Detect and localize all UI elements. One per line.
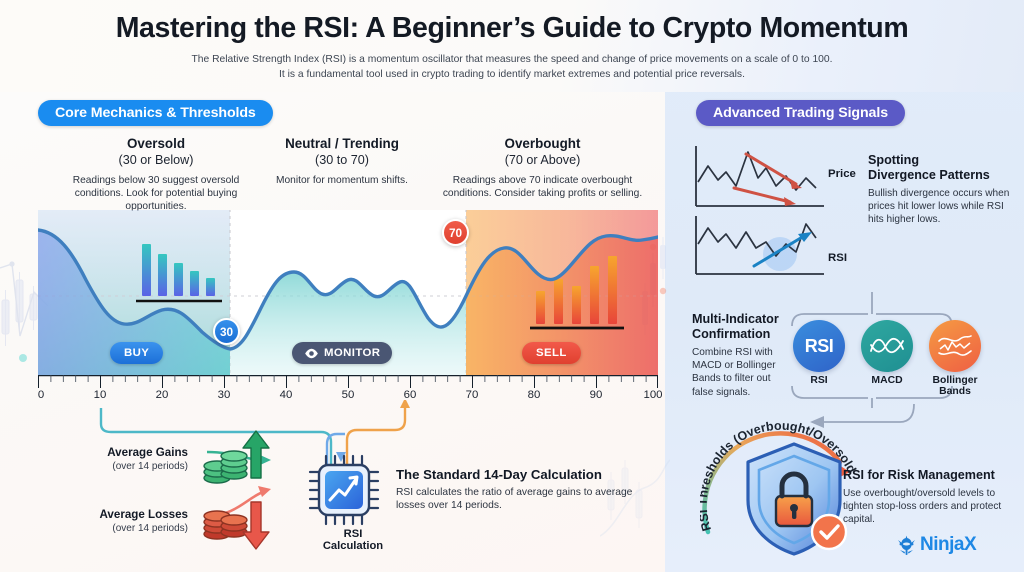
brand-logo-text: NinjaX: [920, 534, 976, 556]
signal-pill-label: MONITOR: [324, 347, 380, 359]
price-chart-label: Price: [828, 168, 856, 180]
standard-calculation-text: The Standard 14-Day Calculation RSI calc…: [396, 466, 636, 513]
bollinger-bands-icon: [937, 333, 973, 359]
zone-range: (30 or Below): [60, 152, 252, 168]
zone-range: (30 to 70): [253, 152, 431, 168]
multi-indicator-text-block: Multi-Indicator Confirmation Combine RSI…: [692, 312, 792, 399]
multi-indicator-heading-line-2: Confirmation: [692, 327, 792, 342]
risk-connector-arrow: [800, 400, 920, 440]
average-gains-title: Average Gains: [78, 446, 188, 460]
multi-indicator-heading-line-1: Multi-Indicator: [692, 312, 792, 327]
risk-management-text-block: RSI for Risk Management Use overbought/o…: [843, 468, 1021, 527]
divergence-heading-line-1: Spotting: [868, 153, 1018, 168]
threshold-marker-30: 30: [213, 318, 240, 345]
indicator-badge-bollinger[interactable]: [929, 320, 981, 372]
page-title: Mastering the RSI: A Beginner’s Guide to…: [0, 12, 1024, 45]
indicator-badge-macd[interactable]: [861, 320, 913, 372]
zone-heading-neutral: Neutral / Trending (30 to 70) Monitor fo…: [253, 136, 431, 187]
label-average-gains: Average Gains (over 14 periods): [78, 446, 188, 473]
indicator-badge-rsi-text: RSI: [805, 336, 834, 357]
indicator-caption-macd: MACD: [871, 375, 902, 386]
divergence-body: Bullish divergence occurs when prices hi…: [868, 187, 1018, 227]
zone-heading-oversold: Oversold (30 or Below) Readings below 30…: [60, 136, 252, 214]
signal-pill-monitor[interactable]: MONITOR: [292, 342, 392, 364]
ninja-mark-icon: [896, 535, 917, 556]
zone-heading-overbought: Overbought (70 or Above) Readings above …: [440, 136, 645, 200]
infographic-canvas: Mastering the RSI: A Beginner’s Guide to…: [0, 0, 1024, 572]
zone-title: Oversold: [60, 136, 252, 152]
indicator-caption-bollinger: Bollinger Bands: [921, 375, 990, 397]
section-badge-advanced-signals: Advanced Trading Signals: [696, 100, 905, 126]
rsi-calculation-caption: RSI Calculation: [313, 528, 393, 552]
coins-down-icon: [196, 492, 276, 554]
zone-range: (70 or Above): [440, 152, 645, 168]
zone-title: Overbought: [440, 136, 645, 152]
average-losses-title: Average Losses: [78, 508, 188, 522]
signal-pill-sell[interactable]: SELL: [522, 342, 581, 364]
eye-icon: [304, 348, 319, 359]
rsi-mini-chart: [696, 216, 824, 274]
indicator-badge-rsi[interactable]: RSI: [793, 320, 845, 372]
subtitle-line-1: The Relative Strength Index (RSI) is a m…: [0, 52, 1024, 67]
rsi-calculation-chip-icon: [306, 452, 382, 528]
risk-heading: RSI for Risk Management: [843, 468, 1021, 483]
zone-description: Readings above 70 indicate overbought co…: [440, 174, 645, 200]
calculation-heading: The Standard 14-Day Calculation: [396, 466, 636, 483]
shield-lock-icon: [740, 440, 848, 558]
rsi-chart-label: RSI: [828, 252, 847, 264]
axis-tick-label: 0: [38, 389, 44, 401]
zone-description: Monitor for momentum shifts.: [253, 174, 431, 187]
brand-logo: NinjaX: [896, 534, 976, 556]
subtitle-line-2: It is a fundamental tool used in crypto …: [0, 67, 1024, 82]
divergence-mini-charts: [692, 142, 830, 282]
price-mini-chart: [696, 146, 824, 206]
average-gains-sub: (over 14 periods): [78, 460, 188, 473]
label-average-losses: Average Losses (over 14 periods): [78, 508, 188, 535]
divergence-heading-line-2: Divergence Patterns: [868, 168, 1018, 183]
axis-tick-label: 100: [643, 389, 662, 401]
average-losses-sub: (over 14 periods): [78, 522, 188, 535]
section-badge-core-mechanics: Core Mechanics & Thresholds: [38, 100, 273, 126]
risk-body: Use overbought/oversold levels to tighte…: [843, 487, 1021, 527]
coins-up-icon: [196, 428, 276, 490]
zone-title: Neutral / Trending: [253, 136, 431, 152]
threshold-marker-70: 70: [442, 219, 469, 246]
signal-pill-buy[interactable]: BUY: [110, 342, 163, 364]
page-subtitle: The Relative Strength Index (RSI) is a m…: [0, 52, 1024, 82]
divergence-text-block: Spotting Divergence Patterns Bullish div…: [868, 153, 1018, 227]
zone-description: Readings below 30 suggest oversold condi…: [60, 174, 252, 214]
indicator-caption-rsi: RSI: [810, 375, 827, 386]
calculation-body: RSI calculates the ratio of average gain…: [396, 486, 636, 513]
multi-indicator-body: Combine RSI with MACD or Bollinger Bands…: [692, 346, 792, 399]
macd-wave-icon: [869, 333, 905, 359]
